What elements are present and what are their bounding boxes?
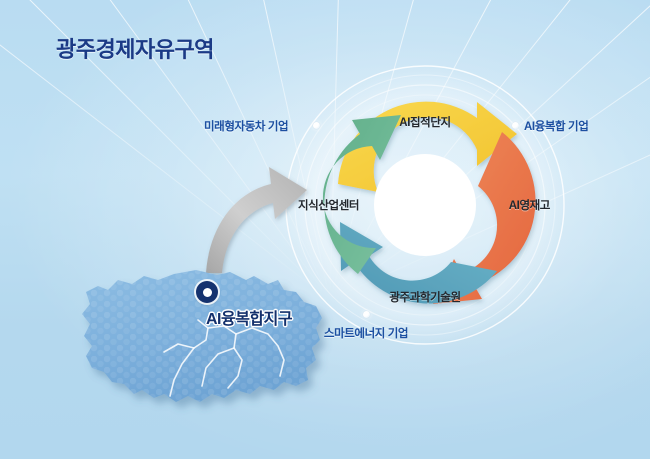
connector-dot-future-vehicle <box>313 122 320 129</box>
cycle-diagram: AI집적단지 AI영재고 광주과학기술원 지식산업센터 <box>296 76 554 334</box>
infographic-canvas: 광주경제자유구역 <box>0 0 650 459</box>
page-title: 광주경제자유구역 <box>56 32 214 64</box>
cycle-center <box>374 154 476 256</box>
curved-arrow-icon <box>203 163 323 278</box>
satellite-label-smart-energy: 스마트에너지 기업 <box>324 325 408 341</box>
connector-dot-smart-energy <box>363 311 370 318</box>
cycle-label-ai-cluster: AI집적단지 <box>399 114 450 130</box>
satellite-label-ai-convergence: AI융복합 기업 <box>524 118 588 134</box>
location-pin-icon <box>196 281 218 303</box>
satellite-label-future-vehicle: 미래형자동차 기업 <box>204 118 288 134</box>
cycle-label-gist: 광주과학기술원 <box>389 289 460 305</box>
connector-dot-ai-convergence <box>512 122 519 129</box>
cycle-label-ai-gifted-school: AI영재고 <box>509 197 550 213</box>
map-region-label: AI융복합지구 <box>206 305 292 329</box>
